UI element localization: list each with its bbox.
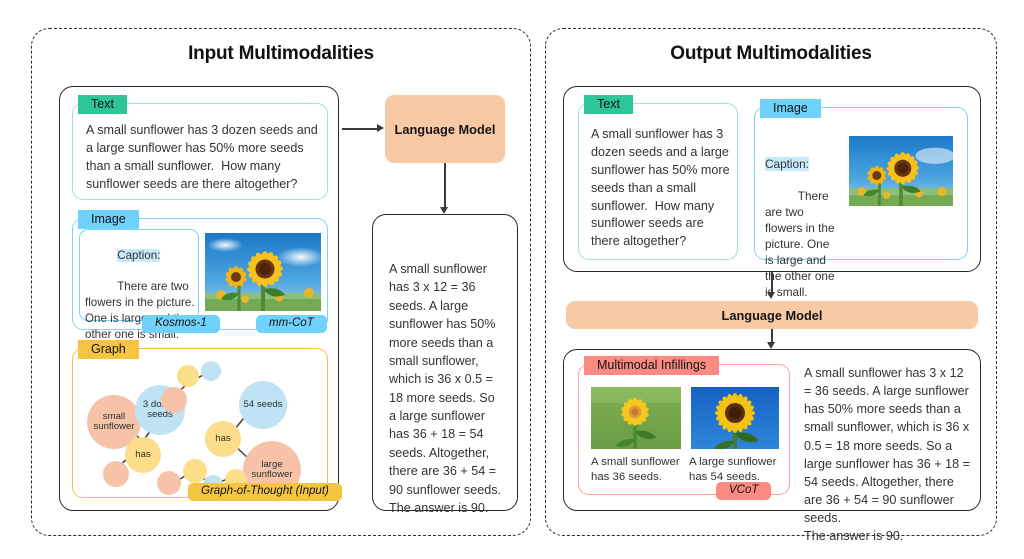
output-text-prompt: A small sunflower has 3 dozen seeds and … xyxy=(591,126,731,251)
input-panel-title: Input Multimodalities xyxy=(32,43,530,65)
input-sunflower-photo xyxy=(205,233,321,311)
graph-node-has-left: has xyxy=(125,437,161,473)
arrow-lm-to-result-head xyxy=(767,342,775,349)
output-language-model-block: Language Model xyxy=(566,301,978,329)
kosmos-chip: Kosmos-1 xyxy=(142,315,220,333)
graph-node-decor-1 xyxy=(103,461,129,487)
output-sunflower-photo xyxy=(849,130,953,212)
output-caption-body: There are two flowers in the picture. On… xyxy=(765,189,838,299)
input-text-box: A small sunflower has 3 dozen seeds and … xyxy=(72,103,328,200)
infilling-caption-small: A small sunflower has 36 seeds. xyxy=(591,455,683,485)
infilling-caption-large: A large sunflower has 54 seeds. xyxy=(689,455,781,485)
infilling-image-small xyxy=(591,387,681,449)
input-panel: Input Multimodalities A small sunflower … xyxy=(31,28,531,536)
output-reasoning-text: A small sunflower has 3 x 12 = 36 seeds.… xyxy=(804,364,972,545)
input-language-model-label: Language Model xyxy=(395,122,496,137)
graph-node-54-seeds: 54 seeds xyxy=(239,381,287,429)
input-text-tag: Text xyxy=(78,95,127,114)
graph-node-has-right: has xyxy=(205,421,241,457)
input-graph-box: small sunflower 3 dozen seeds has 54 see… xyxy=(72,348,328,498)
output-panel: Output Multimodalities A small sunflower… xyxy=(545,28,997,536)
input-reasoning-text: A small sunflower has 3 x 12 = 36 seeds.… xyxy=(389,260,505,517)
input-reasoning-card: A small sunflower has 3 x 12 = 36 seeds.… xyxy=(372,214,518,511)
arrow-lm-to-output-line xyxy=(444,163,446,209)
arrow-lm-to-output-head xyxy=(440,207,448,214)
output-panel-title: Output Multimodalities xyxy=(546,43,996,65)
output-modalities-card: A small sunflower has 3 dozen seeds and … xyxy=(563,86,981,272)
graph-node-decor-4 xyxy=(201,361,221,381)
input-image-box: Caption: There are two flowers in the pi… xyxy=(72,218,328,330)
got-input-chip: Graph-of-Thought (Input) xyxy=(188,483,342,501)
mmcot-chip: mm-CoT xyxy=(256,315,327,333)
arrow-input-to-lm-line xyxy=(342,128,378,130)
multimodal-infillings-box: A small sunflower has 36 seeds. xyxy=(578,364,790,495)
input-text-prompt: A small sunflower has 3 dozen seeds and … xyxy=(86,122,318,194)
output-text-tag: Text xyxy=(584,95,633,114)
input-caption-label: Caption: xyxy=(117,249,160,262)
output-caption-text: Caption: There are two flowers in the pi… xyxy=(765,124,841,316)
output-text-box: A small sunflower has 3 dozen seeds and … xyxy=(578,103,738,260)
output-caption-label: Caption: xyxy=(765,157,809,171)
graph-node-decor-2 xyxy=(161,387,187,413)
input-image-tag: Image xyxy=(78,210,139,229)
output-language-model-label: Language Model xyxy=(722,308,823,323)
graph-node-decor-6 xyxy=(157,471,181,495)
input-language-model-block: Language Model xyxy=(385,95,505,163)
output-image-box: Caption: There are two flowers in the pi… xyxy=(754,107,968,260)
input-graph-tag: Graph xyxy=(78,340,139,359)
arrow-output-to-lm-head xyxy=(767,292,775,299)
infilling-image-large xyxy=(691,387,779,449)
multimodal-infillings-tag: Multimodal Infillings xyxy=(584,356,719,375)
vcot-chip: VCoT xyxy=(716,482,771,500)
output-result-card: A small sunflower has 36 seeds. xyxy=(563,349,981,511)
output-image-tag: Image xyxy=(760,99,821,118)
input-modalities-card: A small sunflower has 3 dozen seeds and … xyxy=(59,86,339,511)
arrow-input-to-lm-head xyxy=(377,124,384,132)
graph-node-decor-3 xyxy=(177,365,199,387)
figure-canvas: Input Multimodalities A small sunflower … xyxy=(0,0,1024,559)
